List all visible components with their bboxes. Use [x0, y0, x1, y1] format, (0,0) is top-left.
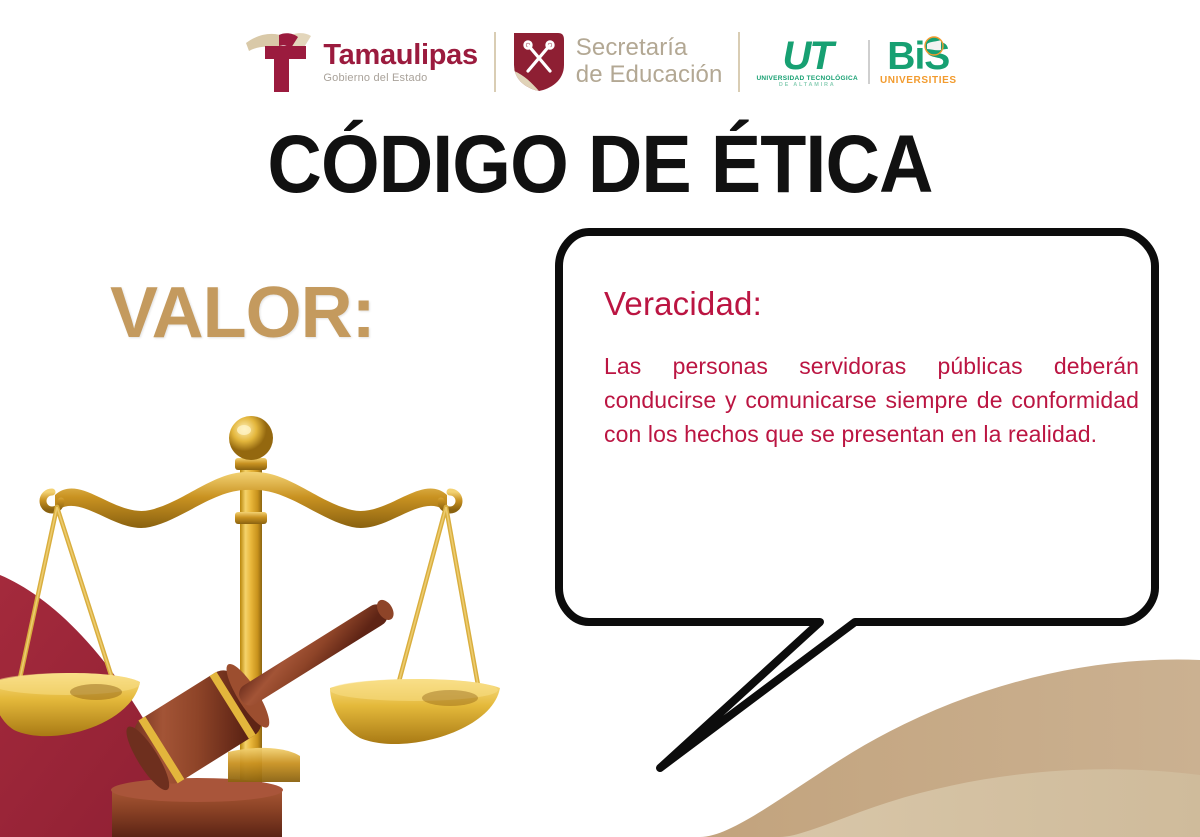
ut-subtitle-1: UNIVERSIDAD TECNOLÓGICA: [756, 75, 858, 82]
poster-canvas: Tamaulipas Gobierno del Estado Secretarí…: [0, 0, 1200, 837]
tamaulipas-t-bird-icon: [243, 29, 315, 95]
bis-globe-icon: [924, 36, 944, 56]
tamaulipas-name: Tamaulipas: [323, 41, 477, 70]
bis-block: BiS UNIVERSITIES: [880, 38, 957, 86]
tamaulipas-logo: Tamaulipas Gobierno del Estado: [243, 29, 477, 95]
secretaria-line2: de Educación: [576, 62, 723, 89]
logo-divider-2: [738, 32, 740, 92]
ut-bis-logo: UT UNIVERSIDAD TECNOLÓGICA DE ALTAMIRA B…: [756, 37, 956, 88]
logo-bar: Tamaulipas Gobierno del Estado Secretarí…: [0, 22, 1200, 102]
value-description: Las personas servidoras públicas deberán…: [604, 349, 1139, 451]
shield-pencil-icon: [512, 31, 566, 93]
ut-bis-divider: [868, 40, 870, 84]
scale-column: [240, 462, 262, 792]
tamaulipas-subtitle: Gobierno del Estado: [323, 73, 477, 84]
ut-mark: UT: [783, 37, 832, 75]
sphere-finial: [229, 416, 273, 460]
value-name-heading: Veracidad:: [604, 285, 1139, 323]
value-label: VALOR:: [110, 272, 375, 354]
justice-scales-and-gavel-illustration: [0, 400, 520, 837]
page-title: CÓDIGO DE ÉTICA: [48, 118, 1152, 212]
secretaria-line1: Secretaría: [576, 35, 723, 62]
ut-block: UT UNIVERSIDAD TECNOLÓGICA DE ALTAMIRA: [756, 37, 858, 88]
speech-bubble-content: Veracidad: Las personas servidoras públi…: [604, 285, 1139, 451]
logo-divider-1: [494, 32, 496, 92]
secretaria-educacion-logo: Secretaría de Educación: [512, 31, 723, 93]
ut-subtitle-2: DE ALTAMIRA: [779, 82, 836, 88]
